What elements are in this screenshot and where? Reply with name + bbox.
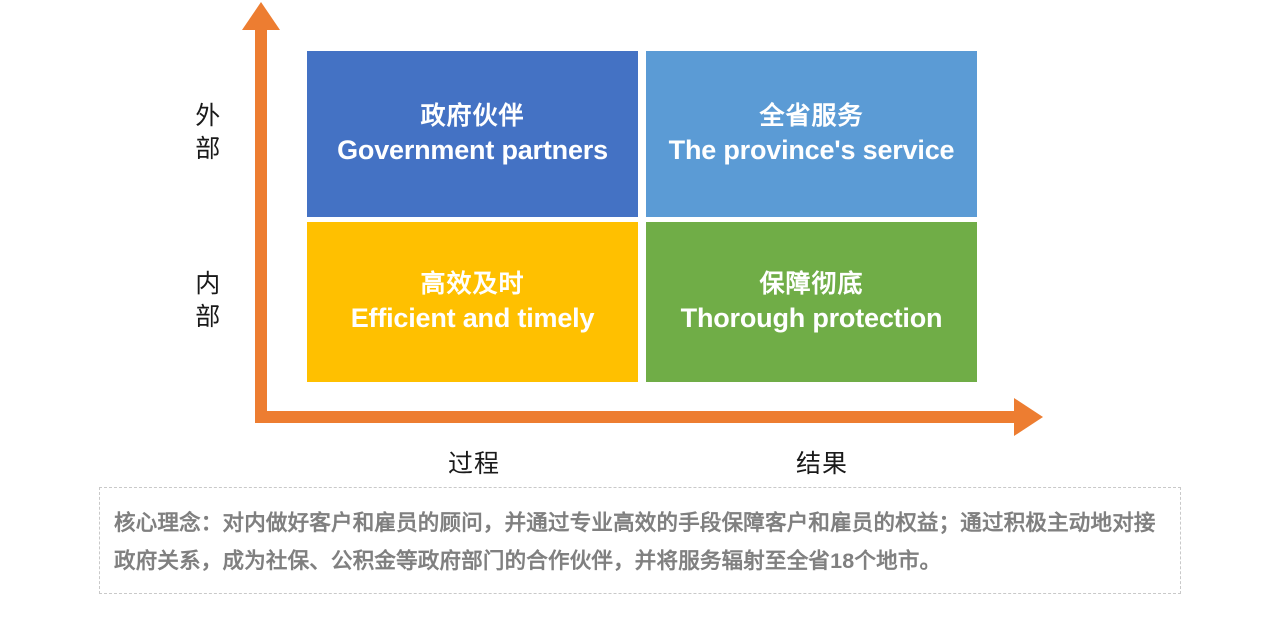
quadrant-title-en: Government partners xyxy=(337,134,608,167)
quadrant-title-cn: 保障彻底 xyxy=(759,269,863,300)
x-axis-label-process: 过程 xyxy=(394,444,554,480)
quadrant-matrix: 政府伙伴 Government partners 全省服务 The provin… xyxy=(307,51,977,382)
quadrant-thorough-protection[interactable]: 保障彻底 Thorough protection xyxy=(646,222,977,382)
y-axis-label-internal: 内部 xyxy=(184,268,232,334)
y-axis-label-external: 外部 xyxy=(184,100,232,166)
quadrant-title-en: Efficient and timely xyxy=(351,302,595,335)
core-concept-box: 核心理念：对内做好客户和雇员的顾问，并通过专业高效的手段保障客户和雇员的权益；通… xyxy=(99,487,1181,594)
quadrant-title-cn: 全省服务 xyxy=(759,101,863,132)
quadrant-province-service[interactable]: 全省服务 The province's service xyxy=(646,51,977,217)
vertical-axis-arrow xyxy=(242,2,280,423)
quadrant-title-en: Thorough protection xyxy=(681,302,943,335)
x-axis-label-result: 结果 xyxy=(742,444,902,480)
quadrant-title-cn: 政府伙伴 xyxy=(420,101,524,132)
quadrant-government-partners[interactable]: 政府伙伴 Government partners xyxy=(307,51,638,217)
quadrant-title-cn: 高效及时 xyxy=(420,269,524,300)
quadrant-title-en: The province's service xyxy=(669,134,955,167)
horizontal-axis-arrow xyxy=(255,398,1043,436)
core-concept-text: 核心理念：对内做好客户和雇员的顾问，并通过专业高效的手段保障客户和雇员的权益；通… xyxy=(114,504,1166,581)
quadrant-efficient-timely[interactable]: 高效及时 Efficient and timely xyxy=(307,222,638,382)
